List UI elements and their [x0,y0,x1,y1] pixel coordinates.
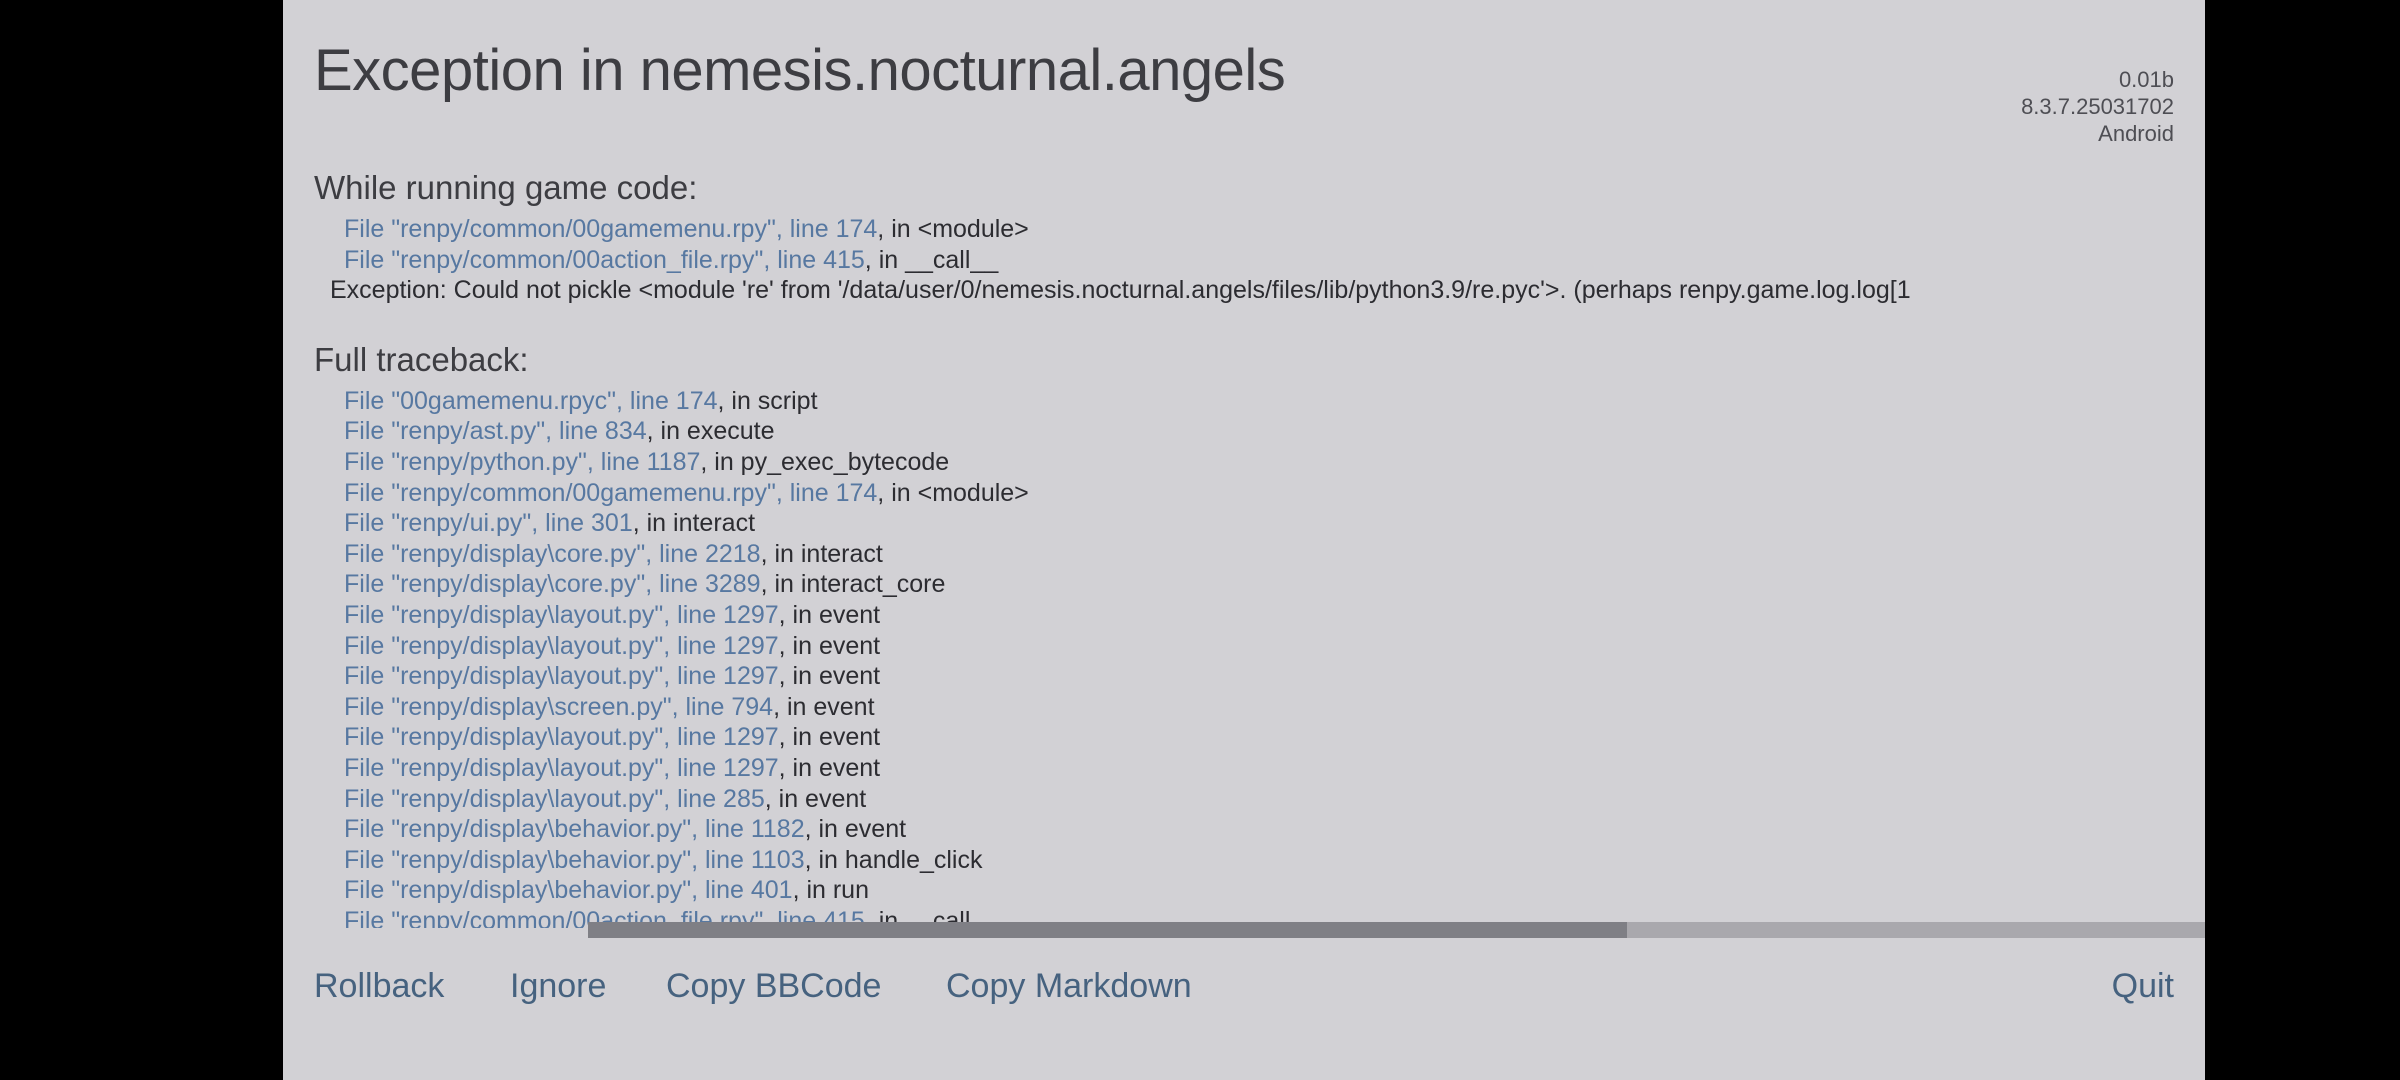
footer-button-bar: Rollback Ignore Copy BBCode Copy Markdow… [314,962,2174,1022]
traceback-content: While running game code: File "renpy/com… [314,168,2205,928]
version-info: 0.01b 8.3.7.25031702 Android [2021,66,2174,147]
horizontal-scrollbar[interactable] [588,922,2205,938]
running-game-code-list: File "renpy/common/00gamemenu.rpy", line… [314,214,2205,275]
traceback-line: File "renpy/display\screen.py", line 794… [314,692,2205,723]
traceback-line: File "renpy/python.py", line 1187, in py… [314,447,2205,478]
traceback-file-reference: File "renpy/common/00gamemenu.rpy", line… [344,215,877,243]
full-traceback-heading: Full traceback: [314,340,2205,380]
traceback-function-reference: , in <module> [877,215,1029,243]
traceback-function-reference: , in event [779,754,880,782]
traceback-line: File "renpy/display\layout.py", line 129… [314,722,2205,753]
traceback-file-reference: File "00gamemenu.rpyc", line 174 [344,387,718,415]
traceback-function-reference: , in event [779,723,880,751]
engine-version: 8.3.7.25031702 [2021,93,2174,120]
traceback-function-reference: , in handle_click [805,846,983,874]
exception-message: Exception: Could not pickle <module 're'… [314,275,2205,306]
traceback-file-reference: File "renpy/display\layout.py", line 129… [344,754,779,782]
traceback-file-reference: File "renpy/display\layout.py", line 129… [344,723,779,751]
traceback-file-reference: File "renpy/ui.py", line 301 [344,509,633,537]
traceback-function-reference: , in event [805,815,906,843]
horizontal-scrollbar-thumb[interactable] [588,922,1627,938]
traceback-file-reference: File "renpy/ast.py", line 834 [344,417,647,445]
quit-button[interactable]: Quit [2112,962,2174,1010]
traceback-line: File "renpy/display\behavior.py", line 1… [314,814,2205,845]
traceback-file-reference: File "renpy/display\core.py", line 3289 [344,570,761,598]
traceback-line: File "renpy/display\layout.py", line 129… [314,753,2205,784]
exception-panel: Exception in nemesis.nocturnal.angels 0.… [283,0,2205,1080]
traceback-file-reference: File "renpy/display\layout.py", line 129… [344,601,779,629]
platform-name: Android [2021,120,2174,147]
traceback-line: File "renpy/common/00gamemenu.rpy", line… [314,214,2205,245]
traceback-file-reference: File "renpy/display\behavior.py", line 1… [344,846,805,874]
traceback-file-reference: File "renpy/display\behavior.py", line 1… [344,815,805,843]
traceback-function-reference: , in event [779,662,880,690]
traceback-function-reference: , in py_exec_bytecode [700,448,949,476]
page-title: Exception in nemesis.nocturnal.angels [314,40,1285,102]
traceback-function-reference: , in event [779,632,880,660]
traceback-line: File "00gamemenu.rpyc", line 174, in scr… [314,386,2205,417]
traceback-function-reference: , in execute [647,417,775,445]
traceback-function-reference: , in run [793,876,869,904]
traceback-viewport[interactable]: While running game code: File "renpy/com… [314,168,2205,928]
traceback-file-reference: File "renpy/display\layout.py", line 129… [344,632,779,660]
exception-screen: Exception in nemesis.nocturnal.angels 0.… [0,0,2400,1080]
copy-bbcode-button[interactable]: Copy BBCode [666,962,881,1010]
traceback-function-reference: , in event [773,693,874,721]
traceback-file-reference: File "renpy/display\layout.py", line 129… [344,662,779,690]
rollback-button[interactable]: Rollback [314,962,444,1010]
full-traceback-list: File "00gamemenu.rpyc", line 174, in scr… [314,386,2205,928]
while-running-heading: While running game code: [314,168,2205,208]
traceback-line: File "renpy/display\layout.py", line 129… [314,661,2205,692]
traceback-function-reference: , in event [779,601,880,629]
traceback-line: File "renpy/display\core.py", line 3289,… [314,569,2205,600]
traceback-line: File "renpy/ui.py", line 301, in interac… [314,508,2205,539]
traceback-line: File "renpy/ast.py", line 834, in execut… [314,416,2205,447]
game-version: 0.01b [2021,66,2174,93]
copy-markdown-button[interactable]: Copy Markdown [946,962,1192,1010]
traceback-function-reference: , in script [718,387,818,415]
traceback-file-reference: File "renpy/python.py", line 1187 [344,448,700,476]
traceback-function-reference: , in interact [633,509,755,537]
traceback-file-reference: File "renpy/display\layout.py", line 285 [344,785,765,813]
traceback-line: File "renpy/display\layout.py", line 129… [314,631,2205,662]
traceback-line: File "renpy/common/00action_file.rpy", l… [314,245,2205,276]
traceback-line: File "renpy/display\layout.py", line 285… [314,784,2205,815]
traceback-function-reference: , in interact_core [761,570,946,598]
traceback-file-reference: File "renpy/common/00gamemenu.rpy", line… [344,479,877,507]
header: Exception in nemesis.nocturnal.angels 0.… [314,24,2174,112]
traceback-line: File "renpy/display\core.py", line 2218,… [314,539,2205,570]
traceback-file-reference: File "renpy/display\core.py", line 2218 [344,540,761,568]
traceback-function-reference: , in interact [761,540,883,568]
traceback-function-reference: , in event [765,785,866,813]
traceback-line: File "renpy/display\behavior.py", line 1… [314,845,2205,876]
traceback-file-reference: File "renpy/common/00action_file.rpy", l… [344,246,865,274]
traceback-line: File "renpy/display\behavior.py", line 4… [314,875,2205,906]
traceback-file-reference: File "renpy/display\behavior.py", line 4… [344,876,793,904]
ignore-button[interactable]: Ignore [510,962,606,1010]
traceback-function-reference: , in __call__ [865,246,998,274]
traceback-function-reference: , in <module> [877,479,1029,507]
traceback-line: File "renpy/display\layout.py", line 129… [314,600,2205,631]
traceback-line: File "renpy/common/00gamemenu.rpy", line… [314,478,2205,509]
traceback-file-reference: File "renpy/display\screen.py", line 794 [344,693,773,721]
